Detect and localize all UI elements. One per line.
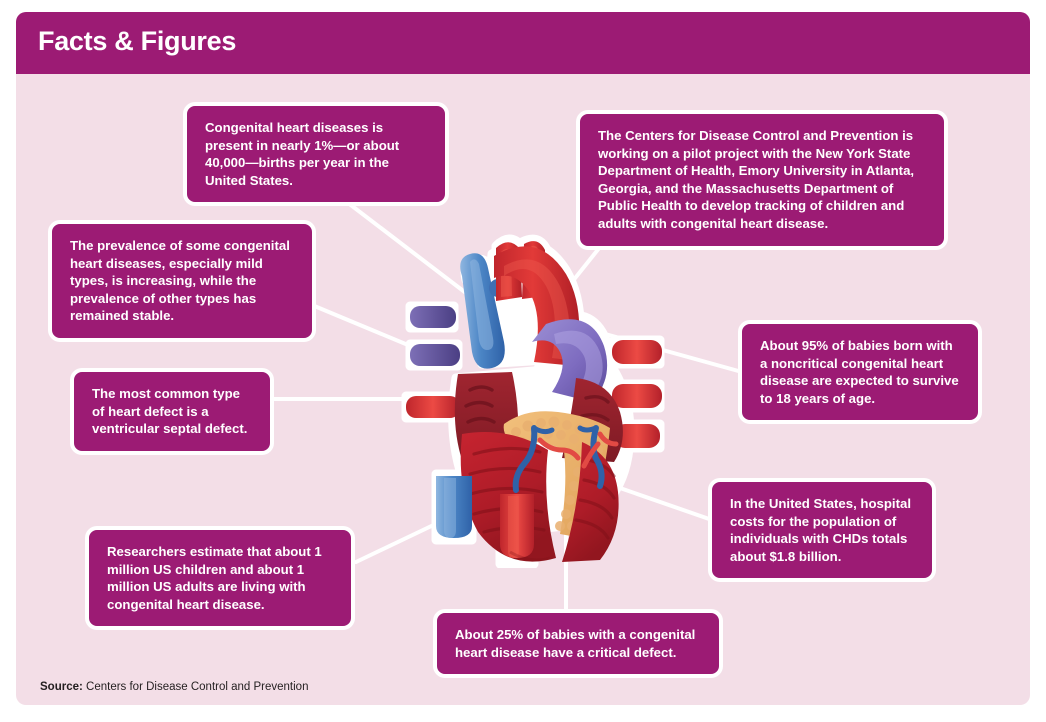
vessel-stub-4: [612, 340, 662, 364]
callout-living-with-chd-text: Researchers estimate that about 1 millio…: [107, 543, 334, 613]
callout-cdc-pilot-text: The Centers for Disease Control and Prev…: [598, 127, 927, 233]
callout-prevalence-text: The prevalence of some congenital heart …: [70, 237, 295, 325]
callout-prevalence[interactable]: The prevalence of some congenital heart …: [48, 220, 316, 342]
callout-ventricular-septal-defect-text: The most common type of heart defect is …: [92, 385, 253, 438]
infographic-root: Facts & Figures: [0, 0, 1046, 722]
source-line: Source: Centers for Disease Control and …: [40, 681, 308, 693]
callout-survival-rate[interactable]: About 95% of babies born with a noncriti…: [738, 320, 982, 424]
source-value: Centers for Disease Control and Preventi…: [83, 681, 309, 693]
callout-ventricular-septal-defect[interactable]: The most common type of heart defect is …: [70, 368, 274, 455]
callout-living-with-chd[interactable]: Researchers estimate that about 1 millio…: [85, 526, 355, 630]
vessel-stub-3: [406, 396, 460, 418]
heart-illustration: [400, 228, 670, 568]
callout-critical-defect[interactable]: About 25% of babies with a congenital he…: [433, 609, 723, 678]
vessel-stub-2: [410, 344, 460, 366]
callout-survival-rate-text: About 95% of babies born with a noncriti…: [760, 337, 961, 407]
callout-births-text: Congenital heart diseases is present in …: [205, 119, 428, 189]
source-label: Source:: [40, 681, 83, 693]
vessel-stub-5: [612, 384, 662, 408]
callout-hospital-costs-text: In the United States, hospital costs for…: [730, 495, 915, 565]
callout-cdc-pilot[interactable]: The Centers for Disease Control and Prev…: [576, 110, 948, 250]
vessel-stub-1: [410, 306, 456, 328]
callout-critical-defect-text: About 25% of babies with a congenital he…: [455, 626, 702, 661]
callout-hospital-costs[interactable]: In the United States, hospital costs for…: [708, 478, 936, 582]
callout-births[interactable]: Congenital heart diseases is present in …: [183, 102, 449, 206]
